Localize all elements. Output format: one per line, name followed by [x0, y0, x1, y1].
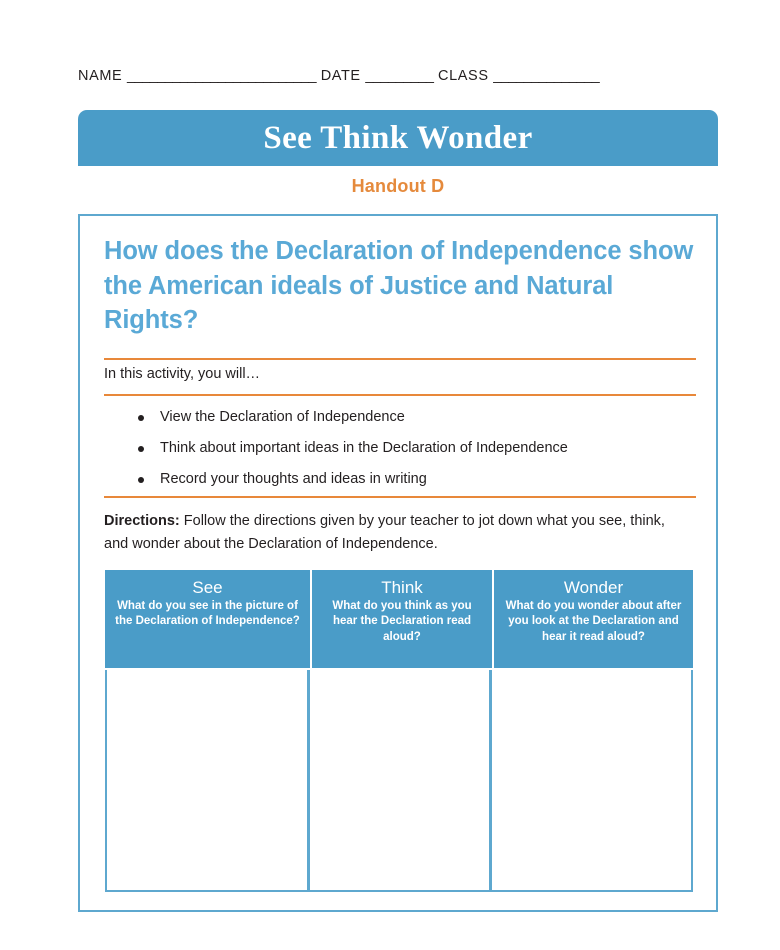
directions-text: Follow the directions given by your teac…	[104, 513, 665, 552]
handout-label: Handout D	[78, 176, 718, 197]
bullet-icon	[138, 415, 144, 421]
name-blank[interactable]: _________________________	[127, 68, 316, 84]
response-cell-see[interactable]	[107, 670, 310, 890]
response-cell-think[interactable]	[310, 670, 492, 890]
class-label: CLASS	[438, 68, 489, 84]
main-question-heading: How does the Declaration of Independence…	[104, 234, 696, 338]
class-blank[interactable]: ______________	[493, 68, 599, 84]
response-cell-wonder[interactable]	[492, 670, 691, 890]
list-item-label: View the Declaration of Independence	[160, 409, 405, 425]
list-item: View the Declaration of Independence	[104, 402, 696, 433]
divider-rule-bottom	[104, 496, 696, 498]
list-item: Record your thoughts and ideas in writin…	[104, 464, 696, 495]
date-label: DATE	[321, 68, 361, 84]
student-info-line: NAME _________________________ DATE ____…	[78, 68, 728, 84]
worksheet-page: NAME _________________________ DATE ____…	[0, 0, 780, 950]
name-label: NAME	[78, 68, 122, 84]
divider-rule-top	[104, 358, 696, 360]
activity-list: View the Declaration of Independence Thi…	[104, 402, 696, 495]
date-blank[interactable]: _________	[365, 68, 433, 84]
bullet-icon	[138, 477, 144, 483]
column-subtitle: What do you think as you hear the Declar…	[320, 599, 484, 645]
directions-label: Directions:	[104, 513, 180, 529]
see-think-wonder-table: See What do you see in the picture of th…	[105, 570, 693, 890]
page-title: See Think Wonder	[263, 120, 532, 157]
table-header-row: See What do you see in the picture of th…	[105, 570, 693, 668]
table-body-row	[105, 670, 693, 892]
directions-paragraph: Directions: Follow the directions given …	[104, 510, 684, 556]
column-subtitle: What do you see in the picture of the De…	[113, 599, 302, 629]
divider-rule-middle	[104, 394, 696, 396]
list-item-label: Record your thoughts and ideas in writin…	[160, 471, 427, 487]
bullet-icon	[138, 446, 144, 452]
column-title: Think	[320, 577, 484, 598]
list-item: Think about important ideas in the Decla…	[104, 433, 696, 464]
column-title: Wonder	[502, 577, 685, 598]
activity-intro-text: In this activity, you will…	[104, 366, 260, 382]
table-header-see: See What do you see in the picture of th…	[105, 570, 312, 668]
title-banner: See Think Wonder	[78, 110, 718, 166]
table-header-think: Think What do you think as you hear the …	[312, 570, 494, 668]
list-item-label: Think about important ideas in the Decla…	[160, 440, 568, 456]
column-title: See	[113, 577, 302, 598]
table-header-wonder: Wonder What do you wonder about after yo…	[494, 570, 693, 668]
column-subtitle: What do you wonder about after you look …	[502, 599, 685, 645]
content-box: How does the Declaration of Independence…	[78, 214, 718, 912]
